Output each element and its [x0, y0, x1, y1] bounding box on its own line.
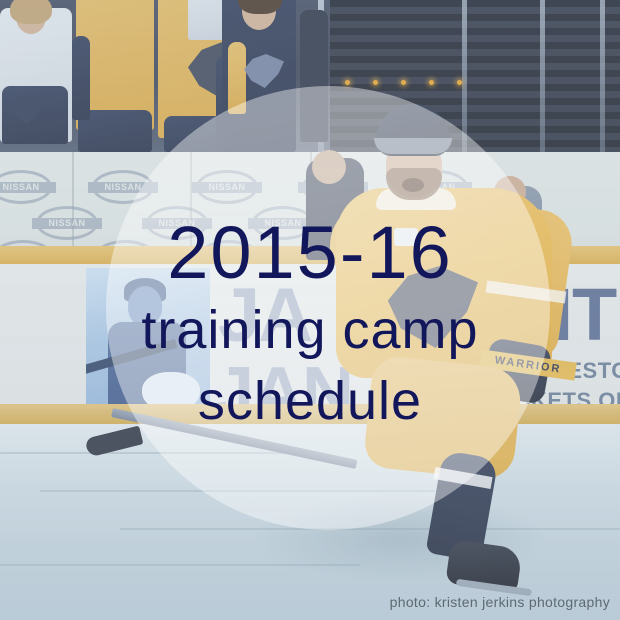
photo-credit: photo: kristen jerkins photography — [390, 594, 610, 610]
training-camp-graphic: NISSAN NISSAN NISSAN NISSAN NISSAN NISSA… — [0, 0, 620, 620]
circle-overlay — [106, 86, 550, 530]
